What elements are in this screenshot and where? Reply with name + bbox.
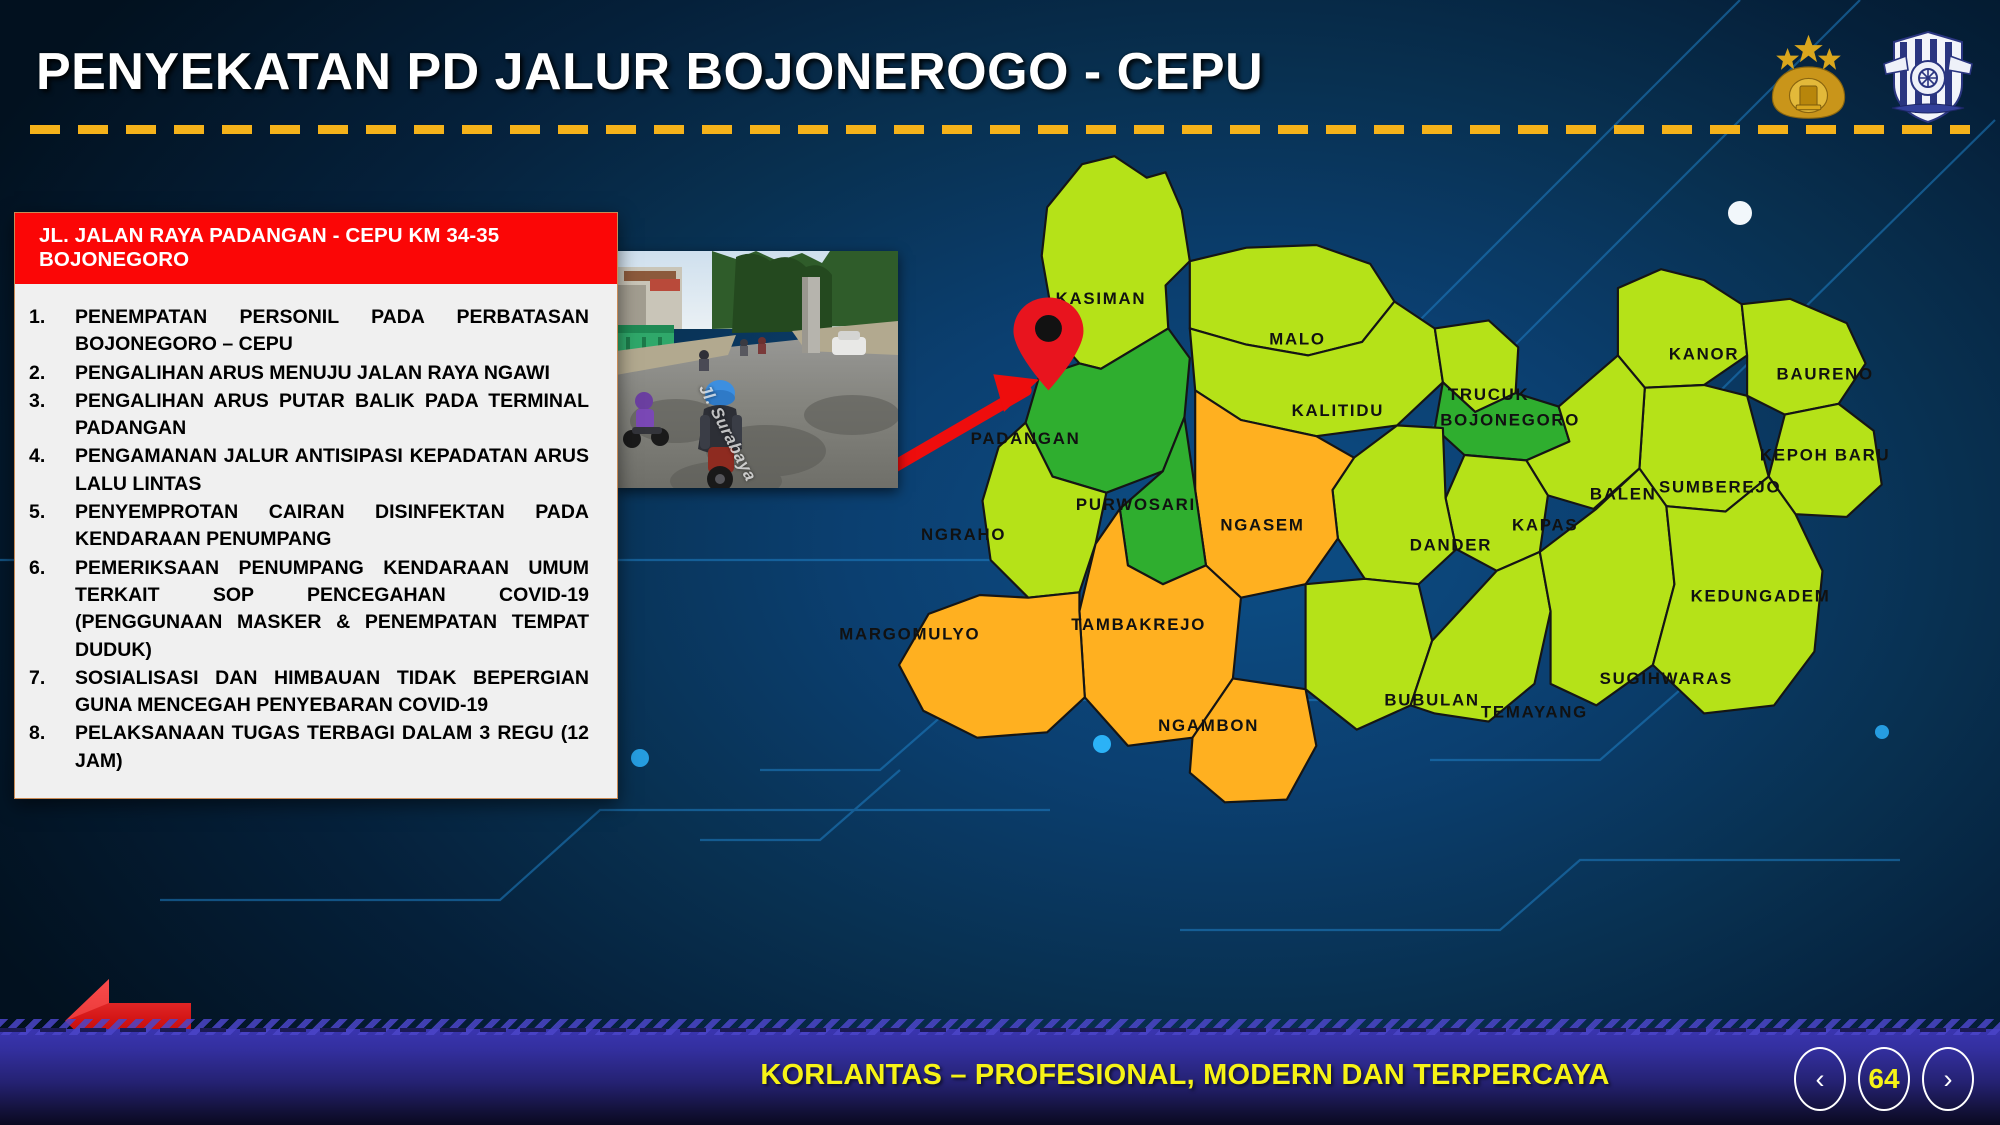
polri-emblem-logo — [1761, 29, 1856, 124]
slide-number-badge: 64 — [1858, 1047, 1910, 1111]
title-divider-dashes — [30, 125, 1970, 134]
korlantas-shield-logo — [1878, 26, 1978, 126]
list-item: PENEMPATAN PERSONIL PADA PERBATASAN BOJO… — [73, 304, 589, 359]
slide-navigation: ‹ 64 › — [1794, 1047, 1974, 1111]
map-label-purwosari: PURWOSARI — [1076, 495, 1196, 514]
map-label-sumberejo: SUMBEREJO — [1659, 478, 1781, 497]
map-label-kalitidu: KALITIDU — [1292, 401, 1384, 420]
next-slide-button[interactable]: › — [1922, 1047, 1974, 1111]
measures-list: PENEMPATAN PERSONIL PADA PERBATASAN BOJO… — [15, 304, 603, 775]
slide-root: PENYEKATAN PD JALUR BOJONEROGO - CEPU — [0, 0, 2000, 1125]
street-photo-inset: Jl. Surabaya — [616, 251, 898, 488]
list-item: PEMERIKSAAN PENUMPANG KENDARAAN UMUM TER… — [73, 555, 589, 664]
map-label-bojonegoro: BOJONEGORO — [1440, 410, 1580, 429]
map-label-kepoh-baru: KEPOH BARU — [1760, 445, 1891, 464]
map-label-ngambon: NGAMBON — [1158, 716, 1259, 735]
map-label-trucuk: TRUCUK — [1448, 385, 1529, 404]
map-label-kedungadem: KEDUNGADEM — [1691, 587, 1831, 606]
map-label-malo: MALO — [1269, 330, 1326, 349]
footer-tagline: KORLANTAS – PROFESIONAL, MODERN DAN TERP… — [735, 1059, 1635, 1092]
list-item: PENGALIHAN ARUS PUTAR BALIK PADA TERMINA… — [73, 388, 589, 443]
map-label-baureno: BAURENO — [1777, 365, 1874, 384]
map-label-tambakrejo: TAMBAKREJO — [1071, 615, 1206, 634]
prev-slide-button[interactable]: ‹ — [1794, 1047, 1846, 1111]
list-item: PELAKSANAAN TUGAS TERBAGI DALAM 3 REGU (… — [73, 720, 589, 775]
map-label-ngasem: NGASEM — [1220, 515, 1304, 534]
map-label-bubulan: BUBULAN — [1384, 690, 1479, 709]
info-card: JL. JALAN RAYA PADANGAN - CEPU KM 34-35 … — [14, 212, 618, 799]
map-label-margomulyo: MARGOMULYO — [839, 624, 980, 643]
map-label-kapas: KAPAS — [1512, 515, 1578, 534]
footer-bar: KORLANTAS – PROFESIONAL, MODERN DAN TERP… — [0, 1029, 2000, 1125]
info-card-body: PENEMPATAN PERSONIL PADA PERBATASAN BOJO… — [15, 284, 617, 798]
map-label-sugihwaras: SUGIHWARAS — [1600, 669, 1733, 688]
logo-group — [1761, 26, 1978, 126]
footer-zigzag-decoration — [0, 1019, 2000, 1035]
map-label-padangan: PADANGAN — [971, 429, 1081, 448]
info-card-header: JL. JALAN RAYA PADANGAN - CEPU KM 34-35 … — [15, 213, 617, 284]
map-label-kanor: KANOR — [1669, 344, 1739, 363]
list-item: PENGAMANAN JALUR ANTISIPASI KEPADATAN AR… — [73, 443, 589, 498]
list-item: PENYEMPROTAN CAIRAN DISINFEKTAN PADA KEN… — [73, 499, 589, 554]
map-label-ngraho: NGRAHO — [921, 525, 1006, 544]
map-label-dander: DANDER — [1410, 536, 1492, 555]
bojonegoro-district-map: KASIMAN MALO KALITIDU TRUCUK BOJONEGORO … — [735, 140, 2000, 840]
page-title: PENYEKATAN PD JALUR BOJONEROGO - CEPU — [36, 42, 1436, 102]
list-item: SOSIALISASI DAN HIMBAUAN TIDAK BEPERGIAN… — [73, 665, 589, 720]
map-label-balen: BALEN — [1590, 484, 1657, 503]
list-item: PENGALIHAN ARUS MENUJU JALAN RAYA NGAWI — [73, 360, 589, 387]
map-label-temayang: TEMAYANG — [1481, 703, 1588, 722]
footer-dash-decoration — [0, 1028, 2000, 1032]
